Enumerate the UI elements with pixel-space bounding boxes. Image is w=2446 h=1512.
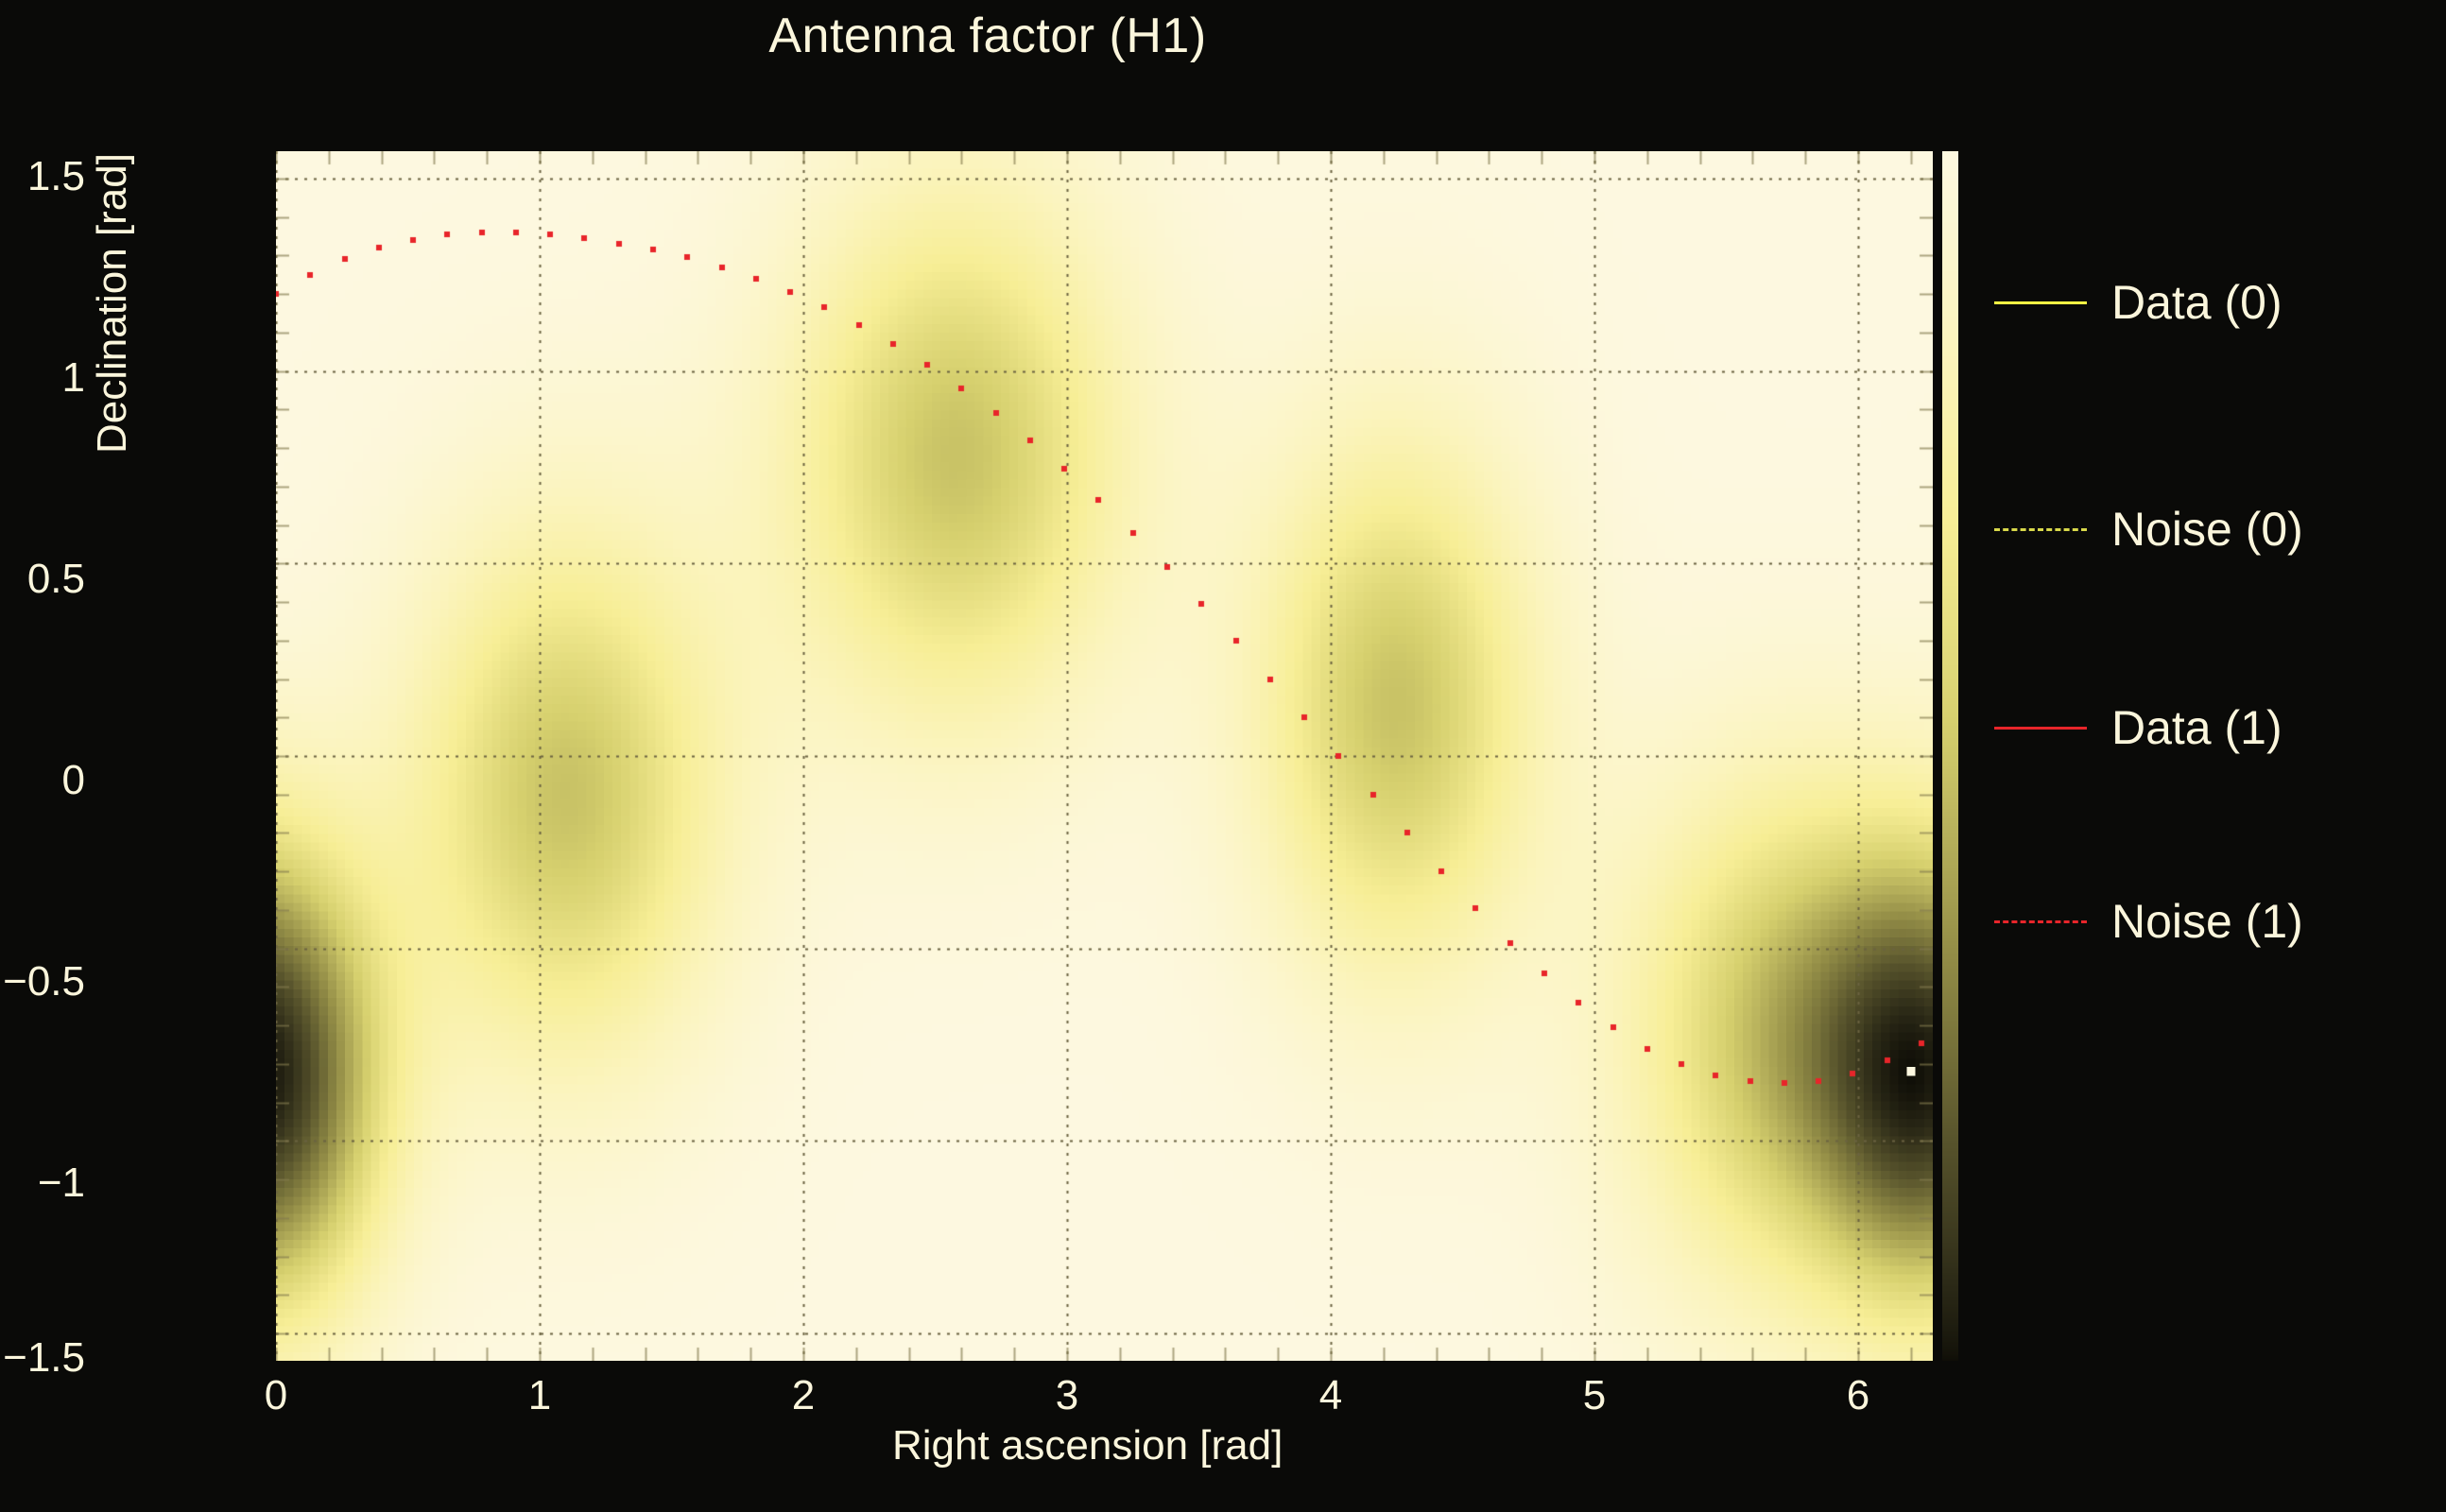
figure-root: Antenna factor (H1) Declination [rad] 1.… [0,0,2446,1512]
y-axis-label: Declination [rad] [89,153,136,454]
legend-item-label: Data (0) [2111,275,2282,330]
y-tick-label: −0.5 [0,958,85,1005]
legend-line-swatch-dashed-yellow [1994,528,2087,531]
x-tick-label: 2 [728,1372,879,1419]
x-tick-label: 6 [1783,1372,1934,1419]
x-tick-label: 1 [464,1372,615,1419]
heatmap-plot-area[interactable] [276,151,1933,1361]
y-tick-label: 0.5 [0,556,85,603]
x-tick-label: 5 [1519,1372,1670,1419]
legend-item-noise-1[interactable]: Noise (1) [1994,893,2303,950]
legend-line-swatch-dashed-red [1994,920,2087,923]
legend-item-noise-0[interactable]: Noise (0) [1994,501,2303,558]
legend-item-data-0[interactable]: Data (0) [1994,274,2282,331]
y-tick-label: −1.5 [0,1334,85,1382]
legend-item-label: Noise (1) [2111,894,2303,949]
x-tick-label: 0 [200,1372,352,1419]
legend-item-label: Noise (0) [2111,502,2303,557]
colorbar [1942,151,1958,1361]
y-tick-label: 0 [0,757,85,804]
page-title: Antenna factor (H1) [0,8,1975,64]
legend-line-swatch-solid-yellow [1994,301,2087,304]
x-axis-label: Right ascension [rad] [892,1422,1283,1469]
x-tick-label: 3 [991,1372,1143,1419]
y-tick-label: 1 [0,354,85,402]
y-tick-label: 1.5 [0,153,85,200]
legend-item-data-1[interactable]: Data (1) [1994,699,2282,756]
y-tick-label: −1 [0,1160,85,1207]
grid-and-track-overlay [276,151,1933,1361]
legend-line-swatch-solid-red [1994,727,2087,730]
legend: Data (0) Noise (0) Data (1) Noise (1) [1994,151,2438,1361]
legend-item-label: Data (1) [2111,700,2282,755]
x-tick-label: 4 [1255,1372,1406,1419]
